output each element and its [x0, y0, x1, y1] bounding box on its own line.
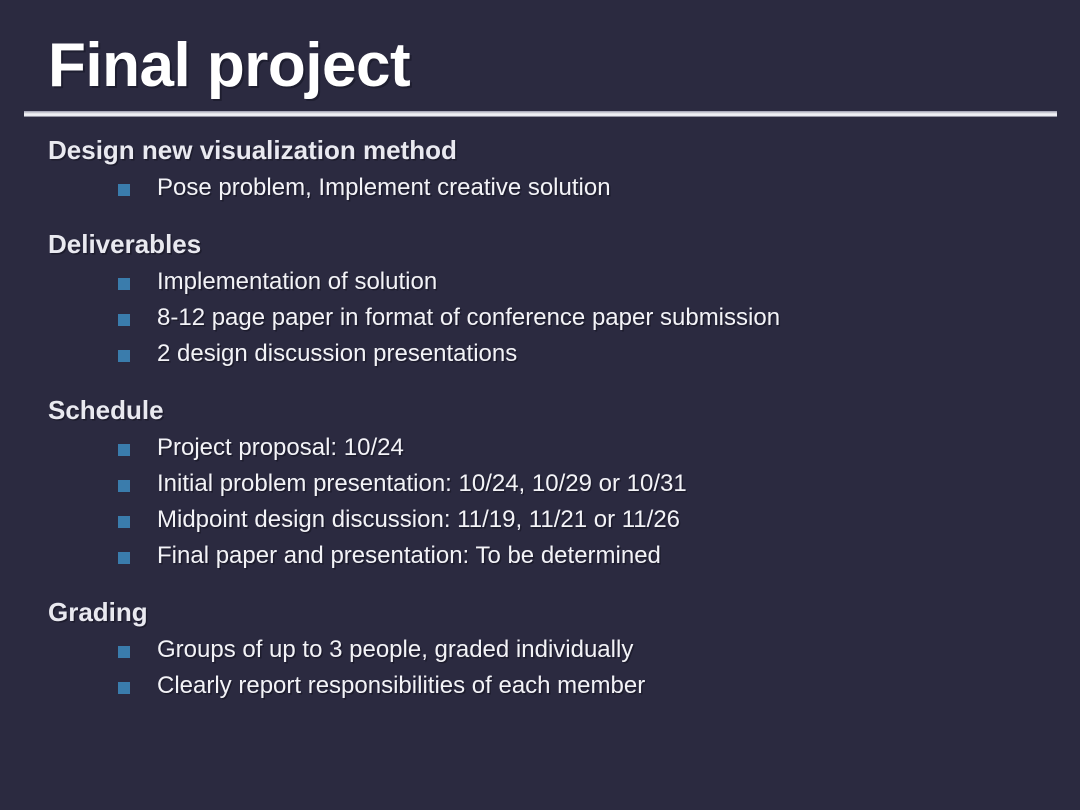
square-bullet-icon	[118, 278, 130, 290]
section-grading: Grading Groups of up to 3 people, graded…	[0, 596, 1080, 704]
slide-body: Design new visualization method Pose pro…	[0, 130, 1080, 704]
square-bullet-icon	[118, 480, 130, 492]
square-bullet-icon	[118, 350, 130, 362]
square-bullet-icon	[118, 646, 130, 658]
slide-canvas: Final project Design new visualization m…	[0, 0, 1080, 810]
list-item-label: 2 design discussion presentations	[157, 340, 517, 367]
list-item-label: Midpoint design discussion: 11/19, 11/21…	[157, 506, 680, 533]
slide-title: Final project	[48, 30, 410, 102]
list-item-label: Groups of up to 3 people, graded individ…	[157, 636, 633, 663]
square-bullet-icon	[118, 314, 130, 326]
section-heading: Grading	[0, 596, 1080, 629]
section-heading: Schedule	[0, 394, 1080, 427]
list-item-label: Clearly report responsibilities of each …	[157, 672, 645, 699]
list-item: Final paper and presentation: To be dete…	[0, 538, 1080, 574]
title-divider-rule	[24, 110, 1057, 117]
list-item-label: Final paper and presentation: To be dete…	[157, 542, 661, 569]
list-item: 8-12 page paper in format of conference …	[0, 300, 1080, 336]
bullet-list: Implementation of solution 8-12 page pap…	[0, 264, 1080, 372]
list-item: Groups of up to 3 people, graded individ…	[0, 632, 1080, 668]
square-bullet-icon	[118, 444, 130, 456]
section-design-new-visualization-method: Design new visualization method Pose pro…	[0, 134, 1080, 206]
list-item-label: Project proposal: 10/24	[157, 434, 404, 461]
list-item-label: Pose problem, Implement creative solutio…	[157, 174, 611, 201]
bullet-list: Groups of up to 3 people, graded individ…	[0, 632, 1080, 704]
list-item-label: Initial problem presentation: 10/24, 10/…	[157, 470, 687, 497]
section-schedule: Schedule Project proposal: 10/24 Initial…	[0, 394, 1080, 574]
square-bullet-icon	[118, 682, 130, 694]
list-item-label: 8-12 page paper in format of conference …	[157, 304, 780, 331]
bullet-list: Project proposal: 10/24 Initial problem …	[0, 430, 1080, 574]
section-heading: Deliverables	[0, 228, 1080, 261]
bullet-list: Pose problem, Implement creative solutio…	[0, 170, 1080, 206]
list-item: Clearly report responsibilities of each …	[0, 668, 1080, 704]
square-bullet-icon	[118, 552, 130, 564]
list-item: Midpoint design discussion: 11/19, 11/21…	[0, 502, 1080, 538]
section-deliverables: Deliverables Implementation of solution …	[0, 228, 1080, 372]
list-item: Implementation of solution	[0, 264, 1080, 300]
list-item-label: Implementation of solution	[157, 268, 437, 295]
list-item: Project proposal: 10/24	[0, 430, 1080, 466]
list-item: 2 design discussion presentations	[0, 336, 1080, 372]
list-item: Pose problem, Implement creative solutio…	[0, 170, 1080, 206]
section-heading: Design new visualization method	[0, 134, 1080, 167]
square-bullet-icon	[118, 516, 130, 528]
square-bullet-icon	[118, 184, 130, 196]
list-item: Initial problem presentation: 10/24, 10/…	[0, 466, 1080, 502]
